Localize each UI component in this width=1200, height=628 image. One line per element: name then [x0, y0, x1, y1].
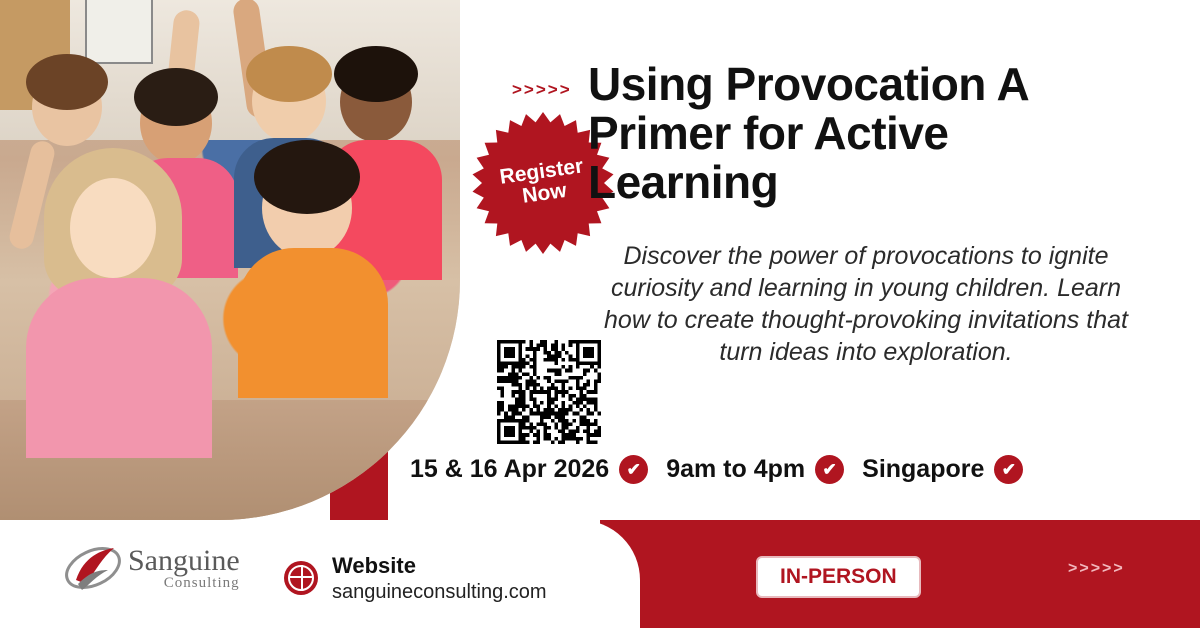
detail-time: 9am to 4pm ✔	[666, 455, 844, 484]
photo-child-3-hair	[246, 46, 332, 102]
website-label: Website	[332, 552, 547, 580]
arrows-top-decoration: >>>>>	[512, 80, 572, 100]
logo-subtitle: Consulting	[128, 576, 240, 591]
check-icon: ✔	[619, 455, 648, 484]
page-title: Using Provocation A Primer for Active Le…	[588, 60, 1148, 206]
logo-swoosh-icon	[62, 540, 124, 596]
website-block[interactable]: Website sanguineconsulting.com	[284, 552, 547, 605]
logo-wordmark: Sanguine Consulting	[128, 546, 240, 591]
detail-time-label: 9am to 4pm	[666, 455, 805, 484]
photo-poster	[85, 0, 153, 64]
photo-child-2-hair	[134, 68, 218, 126]
detail-date-label: 15 & 16 Apr 2026	[410, 455, 609, 484]
website-url[interactable]: sanguineconsulting.com	[332, 580, 547, 605]
check-icon: ✔	[994, 455, 1023, 484]
qr-code[interactable]	[497, 340, 601, 444]
photo-child-1-hair	[26, 54, 108, 110]
classroom-photo	[0, 0, 460, 520]
event-description: Discover the power of provocations to ig…	[586, 240, 1146, 368]
photo-child-4-hair	[334, 46, 418, 102]
detail-location-label: Singapore	[862, 455, 984, 484]
format-badge: IN-PERSON	[756, 556, 921, 598]
detail-date: 15 & 16 Apr 2026 ✔	[410, 455, 648, 484]
detail-location: Singapore ✔	[862, 455, 1023, 484]
brand-logo: Sanguine Consulting	[62, 540, 240, 596]
check-icon: ✔	[815, 455, 844, 484]
photo-child-5-shirt	[238, 248, 388, 398]
photo-child-5-hair	[254, 140, 360, 214]
photo-child-6-face	[70, 178, 156, 278]
event-details-row: 15 & 16 Apr 2026 ✔ 9am to 4pm ✔ Singapor…	[410, 455, 1023, 484]
globe-icon	[284, 561, 318, 595]
photo-child-6-shirt	[26, 278, 212, 458]
arrows-bottom-decoration: >>>>>	[1068, 560, 1125, 578]
photo-overlay	[0, 0, 460, 520]
logo-name: Sanguine	[128, 546, 240, 576]
